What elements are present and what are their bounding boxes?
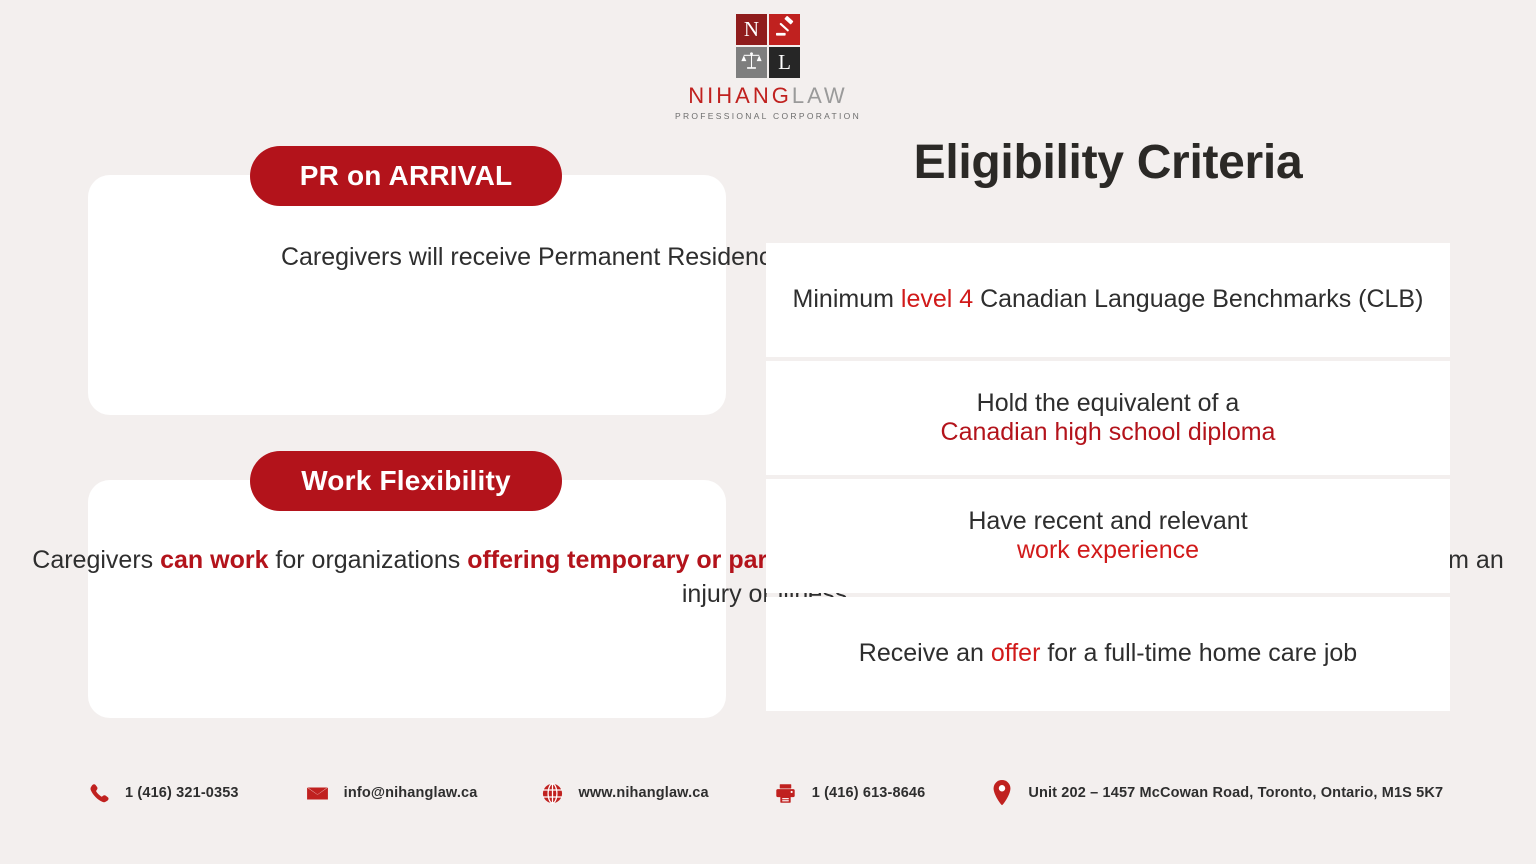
- text-segment-highlight: work experience: [1017, 536, 1199, 564]
- footer-contact-bar: 1 (416) 321-0353 info@nihanglaw.ca: [0, 778, 1536, 808]
- badge-work-flexibility: Work Flexibility: [250, 451, 562, 511]
- contact-email[interactable]: info@nihanglaw.ca: [303, 778, 478, 808]
- logo-cell-scales: [736, 47, 767, 78]
- logo-wordmark: NIHANGLAW: [688, 85, 847, 107]
- criterion-text: Receive an offer for a full-time home ca…: [859, 639, 1357, 669]
- phone-icon: [84, 778, 114, 808]
- contact-website[interactable]: www.nihanglaw.ca: [537, 778, 708, 808]
- email-icon: [303, 778, 333, 808]
- logo-grid: N: [736, 14, 800, 78]
- feature-card-pr-on-arrival: [88, 175, 726, 415]
- contact-fax[interactable]: 1 (416) 613-8646: [771, 778, 926, 808]
- text-segment-highlight: level 4: [901, 285, 973, 313]
- location-pin-icon: [987, 778, 1017, 808]
- list-item: Minimum level 4 Canadian Language Benchm…: [766, 243, 1450, 357]
- text-segment: Receive an: [859, 639, 991, 667]
- logo-cell-gavel: [769, 14, 800, 45]
- contact-website-text: www.nihanglaw.ca: [578, 785, 708, 801]
- fax-icon: [771, 778, 801, 808]
- text-segment: Minimum: [793, 285, 901, 313]
- text-segment-highlight: Canadian high school diploma: [941, 418, 1276, 446]
- text-segment: for a full-time home care job: [1040, 639, 1357, 667]
- text-segment: Caregivers: [32, 546, 160, 574]
- eligibility-criteria-list: Minimum level 4 Canadian Language Benchm…: [766, 243, 1450, 711]
- criterion-text: Minimum level 4 Canadian Language Benchm…: [793, 285, 1424, 315]
- logo-wordmark-primary: NIHANG: [688, 83, 792, 108]
- globe-icon: [537, 778, 567, 808]
- page-title-eligibility-criteria: Eligibility Criteria: [766, 135, 1450, 190]
- text-segment: for organizations: [268, 546, 467, 574]
- text-segment: Have recent and relevant: [968, 507, 1247, 535]
- contact-email-text: info@nihanglaw.ca: [344, 785, 478, 801]
- list-item: Hold the equivalent of a Canadian high s…: [766, 361, 1450, 475]
- letter-l-icon: L: [778, 52, 791, 73]
- badge-pr-on-arrival: PR on ARRIVAL: [250, 146, 562, 206]
- list-item: Receive an offer for a full-time home ca…: [766, 597, 1450, 711]
- text-segment: Hold the equivalent of a: [977, 389, 1240, 417]
- scales-of-justice-icon: [740, 49, 763, 77]
- contact-phone-text: 1 (416) 321-0353: [125, 785, 239, 801]
- contact-phone[interactable]: 1 (416) 321-0353: [84, 778, 239, 808]
- list-item: Have recent and relevant work experience: [766, 479, 1450, 593]
- gavel-icon: [774, 16, 796, 43]
- criterion-text: Have recent and relevant work experience: [968, 507, 1247, 566]
- contact-address-text: Unit 202 – 1457 McCowan Road, Toronto, O…: [1028, 785, 1443, 801]
- brand-logo: N: [0, 14, 1536, 121]
- text-segment-emphasis: can work: [160, 546, 268, 574]
- letter-n-icon: N: [744, 19, 759, 40]
- logo-tagline: PROFESSIONAL CORPORATION: [675, 111, 861, 121]
- logo-wordmark-secondary: LAW: [792, 83, 848, 108]
- criterion-text: Hold the equivalent of a Canadian high s…: [941, 389, 1276, 448]
- contact-address[interactable]: Unit 202 – 1457 McCowan Road, Toronto, O…: [987, 778, 1443, 808]
- text-segment-highlight: offer: [991, 639, 1041, 667]
- logo-cell-letter-l: L: [769, 47, 800, 78]
- text-segment: Canadian Language Benchmarks (CLB): [973, 285, 1423, 313]
- contact-fax-text: 1 (416) 613-8646: [812, 785, 926, 801]
- logo-cell-letter-n: N: [736, 14, 767, 45]
